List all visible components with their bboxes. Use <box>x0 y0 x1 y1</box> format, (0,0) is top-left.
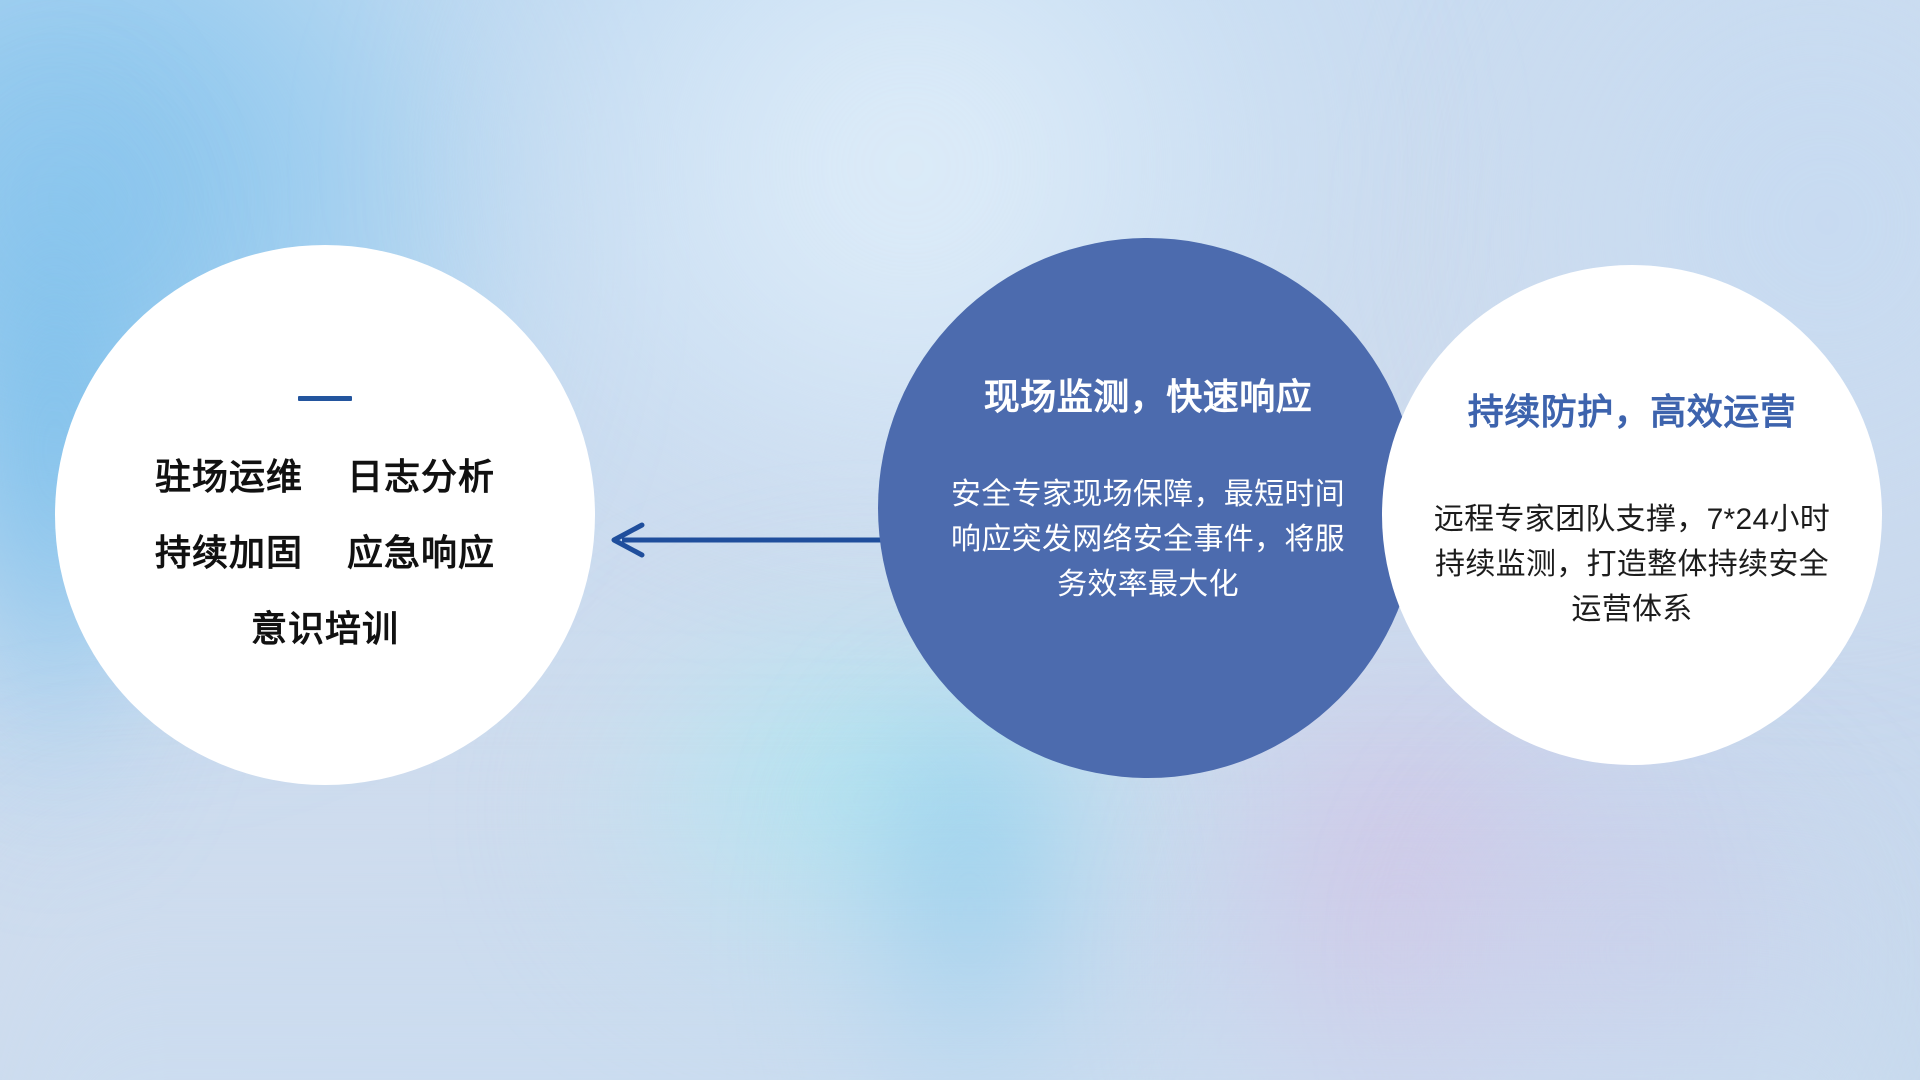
onsite-title: 现场监测，快速响应 <box>984 368 1313 420</box>
capability-line-2: 持续加固 应急响应 <box>55 535 595 571</box>
continuous-body: 远程专家团队支撑，7*24小时持续监测，打造整体持续安全运营体系 <box>1422 497 1842 632</box>
capabilities-circle[interactable]: 驻场运维 日志分析 持续加固 应急响应 意识培训 <box>55 245 595 785</box>
continuous-protection-circle[interactable]: 持续防护，高效运营 远程专家团队支撑，7*24小时持续监测，打造整体持续安全运营… <box>1382 265 1882 765</box>
slide-canvas: 驻场运维 日志分析 持续加固 应急响应 意识培训 现场监测，快速响应 安全专家现… <box>0 0 1920 1080</box>
capability-line-1: 驻场运维 日志分析 <box>55 459 595 495</box>
divider-rule <box>298 396 352 401</box>
capability-line-3: 意识培训 <box>55 611 595 647</box>
continuous-title: 持续防护，高效运营 <box>1468 383 1797 435</box>
flow-arrow-icon <box>600 520 890 560</box>
onsite-monitoring-circle[interactable]: 现场监测，快速响应 安全专家现场保障，最短时间响应突发网络安全事件，将服务效率最… <box>878 238 1418 778</box>
capabilities-content: 驻场运维 日志分析 持续加固 应急响应 意识培训 <box>55 396 595 647</box>
onsite-body: 安全专家现场保障，最短时间响应突发网络安全事件，将服务效率最大化 <box>948 472 1348 607</box>
